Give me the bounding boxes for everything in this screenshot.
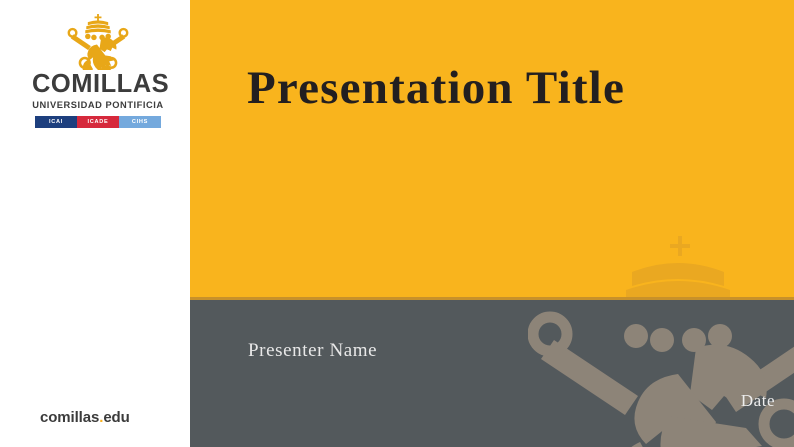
content-region: Presentation Title Presenter Name Date (190, 0, 794, 447)
school-segment-icai[interactable]: ICAI (35, 116, 77, 128)
school-label-icai: ICAI (49, 119, 63, 125)
presentation-title: Presentation Title (247, 61, 625, 115)
logo-subtitle: UNIVERSIDAD PONTIFICIA (32, 100, 164, 110)
watermark-upper-clip (190, 0, 794, 297)
presentation-date: Date (741, 391, 775, 411)
website-url[interactable]: comillas.edu (40, 409, 130, 426)
comillas-logo: COMILLAS UNIVERSIDAD PONTIFICIA ICAI ICA… (32, 14, 164, 128)
title-slide: Presentation Title Presenter Name Date (0, 0, 794, 447)
website-url-suffix: edu (103, 409, 129, 426)
school-label-cihs: CIHS (132, 119, 148, 125)
watermark-lower-clip (190, 300, 794, 447)
logo-wordmark: COMILLAS (32, 71, 164, 98)
comillas-crest-watermark-lower-icon (528, 300, 794, 447)
presenter-name: Presenter Name (248, 340, 377, 362)
left-rail: COMILLAS UNIVERSIDAD PONTIFICIA ICAI ICA… (0, 0, 190, 447)
website-url-prefix: comillas (40, 409, 99, 426)
school-label-icade: ICADE (88, 119, 109, 125)
comillas-crest-watermark-icon (528, 228, 794, 297)
school-bar: ICAI ICADE CIHS (35, 116, 161, 128)
school-segment-icade[interactable]: ICADE (77, 116, 119, 128)
school-segment-cihs[interactable]: CIHS (119, 116, 161, 128)
comillas-crest-icon (67, 14, 129, 70)
